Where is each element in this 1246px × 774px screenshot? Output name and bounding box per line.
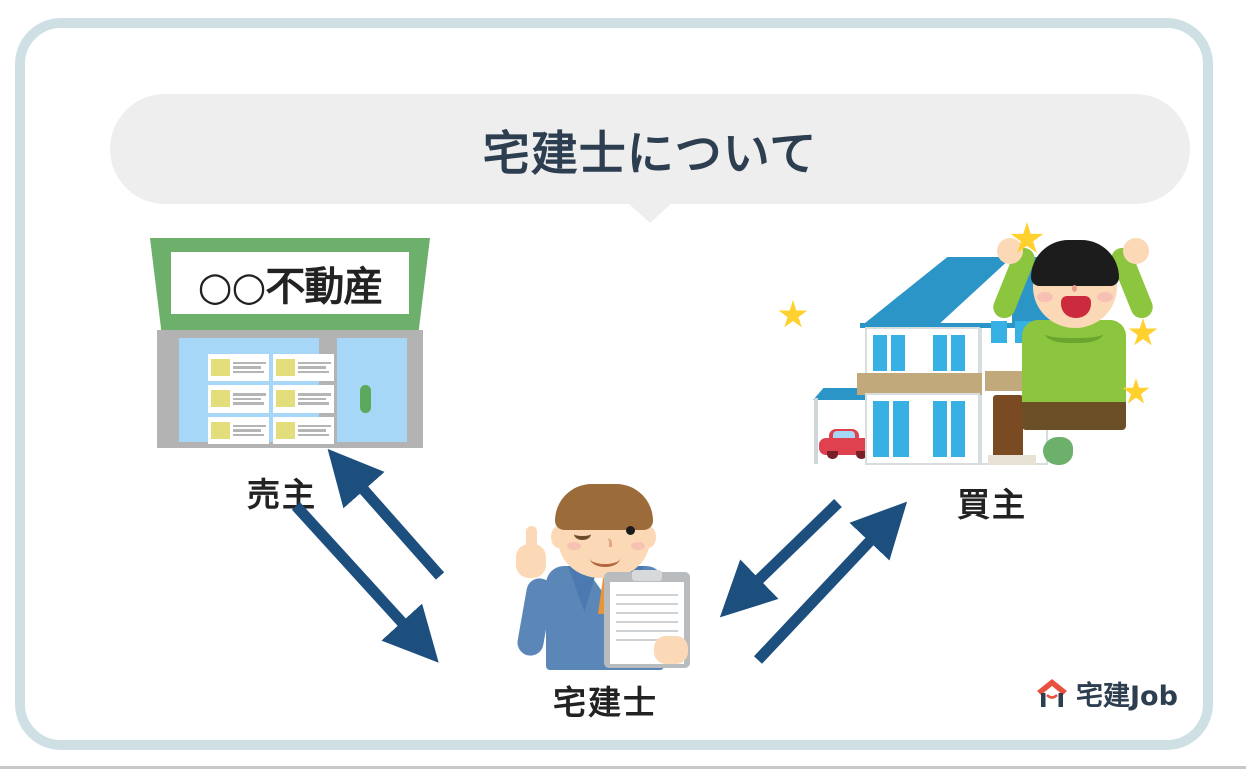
- house-window: [933, 335, 947, 371]
- listing-flyer: [273, 354, 334, 381]
- flyer-photo: [211, 359, 230, 376]
- house-window: [891, 335, 905, 371]
- flyer-text-lines: [298, 362, 331, 374]
- flyer-photo: [276, 390, 295, 407]
- listing-flyer: [273, 385, 334, 412]
- buyer-cheek-right: [1097, 292, 1113, 302]
- car-wheel: [827, 451, 838, 459]
- listing-flyer: [273, 417, 334, 444]
- listing-flyer-grid: [208, 354, 334, 444]
- page-title: 宅建士について: [110, 94, 1190, 204]
- page-bottom-divider: [0, 766, 1246, 769]
- clipboard-clip: [632, 570, 662, 581]
- flyer-photo: [276, 422, 295, 439]
- shop-door-handle: [360, 385, 371, 413]
- flyer-text-lines: [298, 393, 331, 405]
- house-window: [933, 401, 947, 457]
- house-window: [873, 335, 887, 371]
- flyer-text-lines: [298, 425, 331, 437]
- seller-label: 売主: [247, 468, 317, 516]
- buyer-hair: [1031, 240, 1119, 286]
- buyer-trousers: [1022, 402, 1126, 430]
- agent-eye-right: [626, 526, 635, 535]
- buyer-label: 買主: [957, 478, 1027, 526]
- buyer-cheek-left: [1037, 292, 1053, 302]
- flyer-photo: [211, 422, 230, 439]
- speech-bubble-tail-icon: [628, 203, 672, 223]
- agent-nose: [601, 538, 612, 547]
- agent-cheek-left: [567, 542, 581, 550]
- agent-mouth: [590, 550, 620, 567]
- listing-flyer: [208, 385, 269, 412]
- house-facade-band: [857, 373, 982, 395]
- clipboard-text-lines: [616, 594, 678, 641]
- agent-label: 宅建士: [553, 676, 658, 724]
- flyer-text-lines: [233, 362, 266, 374]
- flyer-photo: [276, 359, 295, 376]
- agent-left-hand: [516, 544, 546, 578]
- agent-eye-wink: [574, 528, 591, 540]
- agent-cheek-right: [631, 542, 645, 550]
- shop-sign-panel: ○○不動産: [171, 252, 409, 314]
- house-logo-icon: [1036, 678, 1068, 708]
- seller-shop-illustration: ○○不動産: [145, 238, 435, 453]
- logo-text: 宅建Job: [1076, 674, 1178, 713]
- agent-person-illustration: [510, 470, 720, 675]
- buyer-nose: [1072, 285, 1077, 292]
- agent-hair: [555, 484, 653, 530]
- listing-flyer: [208, 354, 269, 381]
- house-window: [873, 401, 889, 457]
- buyer-eye-right: [1083, 278, 1103, 294]
- shop-sign-text: ○○不動産: [171, 252, 409, 314]
- house-window: [893, 401, 909, 457]
- house-window: [951, 335, 965, 371]
- buyer-right-hand: [1123, 238, 1149, 264]
- listing-flyer: [208, 417, 269, 444]
- buyer-eye-left: [1047, 278, 1067, 294]
- flyer-text-lines: [233, 393, 266, 405]
- agent-right-hand: [654, 636, 688, 664]
- flyer-photo: [211, 390, 230, 407]
- shop-window: [179, 338, 319, 442]
- brand-logo: 宅建Job: [1036, 672, 1188, 714]
- carport-post: [814, 398, 818, 464]
- shop-door: [337, 338, 407, 442]
- garden-bush: [1043, 437, 1073, 465]
- house-entrance-step: [988, 455, 1036, 465]
- title-speech-bubble: 宅建士について: [110, 94, 1190, 204]
- shop-facade: [157, 330, 423, 448]
- flyer-text-lines: [233, 425, 266, 437]
- house-window: [951, 401, 965, 457]
